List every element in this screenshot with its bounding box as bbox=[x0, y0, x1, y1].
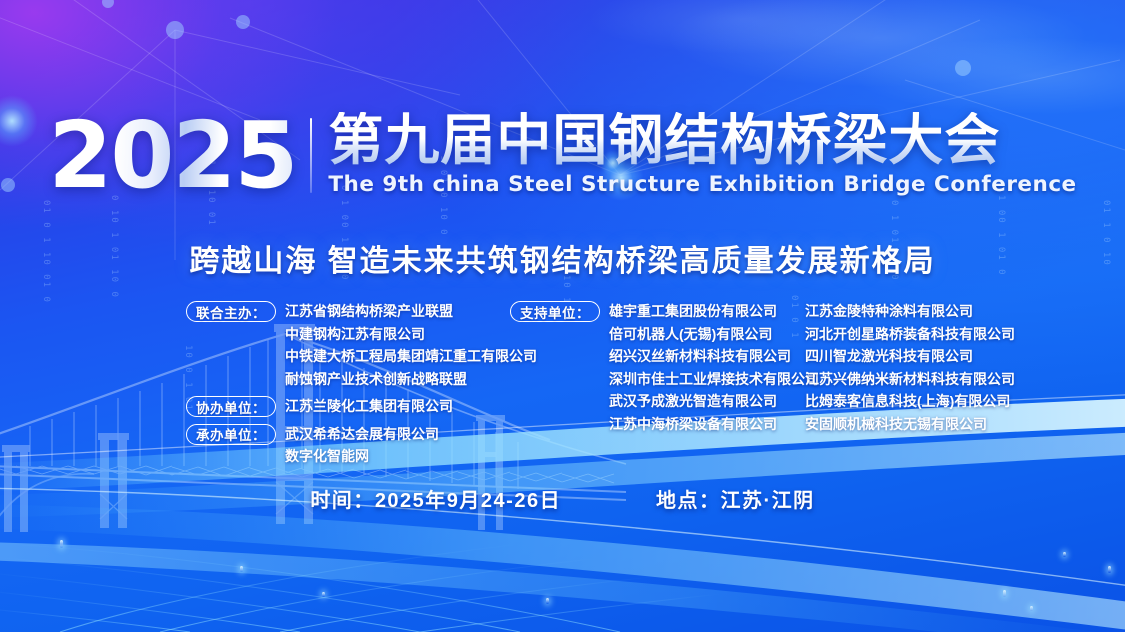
org-item: 四川智龙激光科技有限公司 bbox=[805, 345, 1105, 368]
title-divider bbox=[310, 118, 312, 193]
organizers-column: 联合主办： 江苏省钢结构桥梁产业联盟 中建钢构江苏有限公司 中铁建大桥工程局集团… bbox=[186, 300, 516, 468]
place-value: 江苏·江阴 bbox=[721, 484, 815, 513]
spark-decor bbox=[1030, 606, 1033, 611]
headline-block: 2025 第九届中国钢结构桥梁大会 The 9th china Steel St… bbox=[0, 112, 1125, 199]
year-2025: 2025 bbox=[48, 112, 310, 199]
org-item: 中建钢构江苏有限公司 bbox=[285, 323, 537, 346]
org-item: 深圳市佳士工业焊接技术有限公司 bbox=[609, 368, 819, 391]
org-item: 绍兴汉丝新材料科技有限公司 bbox=[609, 345, 819, 368]
page-title-cn: 第九届中国钢结构桥梁大会 bbox=[328, 112, 1076, 168]
place-label: 地点： bbox=[656, 484, 721, 513]
event-meta: 时间：2025年9月24-26日 地点：江苏·江阴 bbox=[0, 484, 1125, 513]
spark-decor bbox=[322, 592, 325, 597]
org-item: 河北开创星路桥装备科技有限公司 bbox=[805, 323, 1105, 346]
org-item: 安固顺机械科技无锡有限公司 bbox=[805, 413, 1105, 436]
supporters-column: 支持单位： 雄宇重工集团股份有限公司 倍可机器人(无锡)有限公司 绍兴汉丝新材料… bbox=[510, 300, 810, 435]
spark-decor bbox=[240, 566, 243, 572]
org-label-supporters: 支持单位： bbox=[510, 301, 600, 322]
time-label: 时间： bbox=[310, 484, 375, 513]
org-item: 江苏兴佛纳米新材料科技有限公司 bbox=[805, 368, 1105, 391]
org-item: 江苏兰陵化工集团有限公司 bbox=[285, 395, 453, 418]
org-item: 耐蚀钢产业技术创新战略联盟 bbox=[285, 368, 537, 391]
org-item: 中铁建大桥工程局集团靖江重工有限公司 bbox=[285, 345, 537, 368]
org-item: 江苏金陵特种涂料有限公司 bbox=[805, 300, 1105, 323]
org-item: 武汉予成激光智造有限公司 bbox=[609, 390, 819, 413]
spark-decor bbox=[546, 598, 549, 604]
org-group-co-hosts: 联合主办： 江苏省钢结构桥梁产业联盟 中建钢构江苏有限公司 中铁建大桥工程局集团… bbox=[186, 300, 516, 390]
supporters-column-2: 江苏金陵特种涂料有限公司 河北开创星路桥装备科技有限公司 四川智龙激光科技有限公… bbox=[805, 300, 1105, 436]
spark-decor bbox=[60, 540, 63, 548]
org-item: 倍可机器人(无锡)有限公司 bbox=[609, 323, 819, 346]
org-label-undertaker: 承办单位： bbox=[186, 424, 276, 445]
org-group-undertaker: 承办单位： 武汉希希达会展有限公司 数字化智能网 bbox=[186, 423, 516, 468]
conference-banner: 01 0 1 10 01 0 0 10 1 01 10 0 10 0 1 01 … bbox=[0, 0, 1125, 632]
org-group-supporters: 支持单位： 雄宇重工集团股份有限公司 倍可机器人(无锡)有限公司 绍兴汉丝新材料… bbox=[510, 300, 810, 435]
org-label-co-organizer: 协办单位： bbox=[186, 396, 276, 417]
slogan: 跨越山海 智造未来共筑钢结构桥梁高质量发展新格局 bbox=[0, 236, 1125, 280]
spark-decor bbox=[1003, 590, 1006, 597]
organizations-block: 联合主办： 江苏省钢结构桥梁产业联盟 中建钢构江苏有限公司 中铁建大桥工程局集团… bbox=[0, 300, 1125, 450]
org-item: 比姆泰客信息科技(上海)有限公司 bbox=[805, 390, 1105, 413]
org-label-co-hosts: 联合主办： bbox=[186, 301, 276, 322]
org-item: 江苏省钢结构桥梁产业联盟 bbox=[285, 300, 537, 323]
spark-decor bbox=[1063, 552, 1066, 557]
spark-decor bbox=[1108, 566, 1111, 573]
org-item: 武汉希希达会展有限公司 bbox=[285, 423, 439, 446]
org-item: 雄宇重工集团股份有限公司 bbox=[609, 300, 819, 323]
org-group-co-organizer: 协办单位： 江苏兰陵化工集团有限公司 bbox=[186, 395, 516, 418]
org-item: 江苏中海桥梁设备有限公司 bbox=[609, 413, 819, 436]
time-value: 2025年9月24-26日 bbox=[375, 484, 561, 513]
org-item: 数字化智能网 bbox=[285, 445, 439, 468]
page-title-en: The 9th china Steel Structure Exhibition… bbox=[328, 172, 1076, 197]
